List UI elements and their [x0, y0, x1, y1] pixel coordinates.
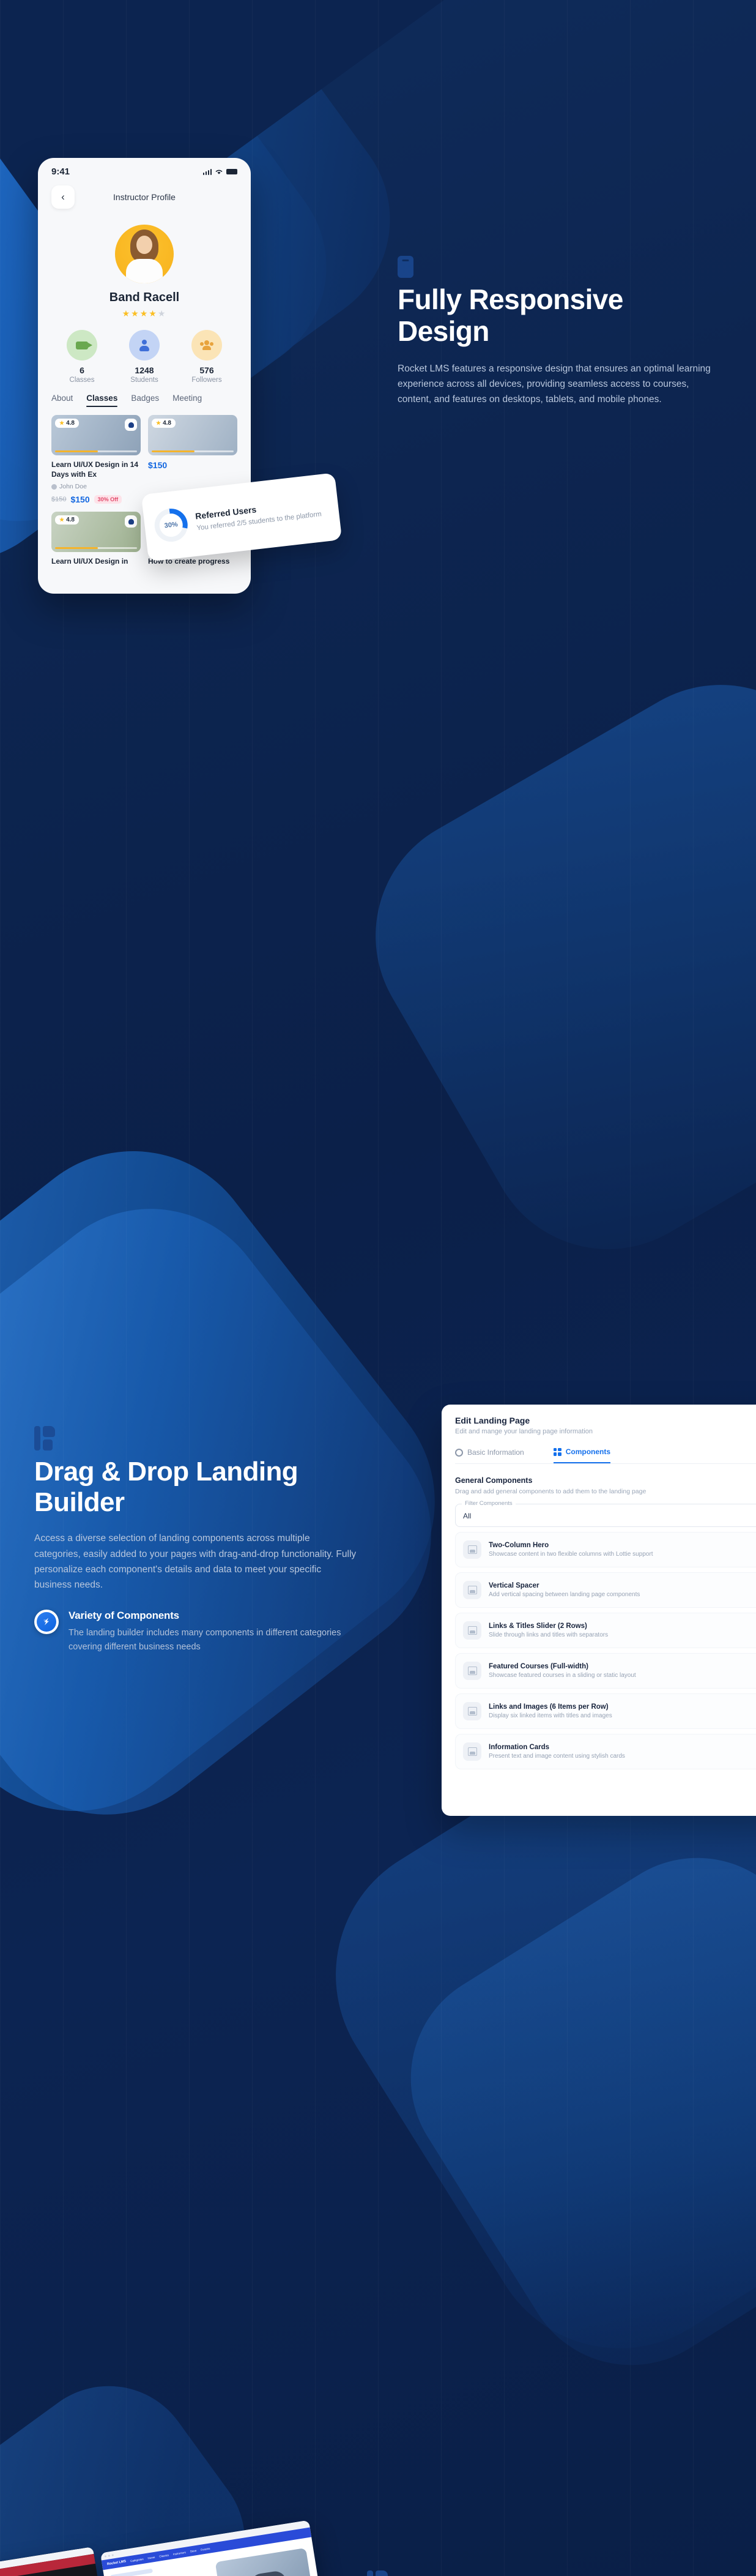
page-title: Fully Responsive Design [398, 284, 716, 348]
stat-label: Students [124, 376, 165, 384]
battery-icon [226, 169, 237, 174]
signal-icon [203, 169, 212, 175]
phone-status-bar: 9:41 [38, 158, 251, 179]
video-camera-icon [67, 330, 97, 360]
bell-icon[interactable] [125, 419, 137, 431]
stat-value: 576 [187, 365, 227, 375]
profile-name: Band Racell [38, 291, 251, 305]
wifi-icon [215, 168, 223, 175]
status-time: 9:41 [51, 166, 70, 177]
section-fully-responsive-design: 9:41 ‹ Instructor Profile Band Racell ★★… [0, 0, 756, 649]
group-icon [191, 330, 222, 360]
mobile-device-icon [398, 256, 413, 278]
avatar [115, 225, 174, 283]
rating-stars: ★★★★★ [38, 308, 251, 319]
nav-title: Instructor Profile [38, 192, 251, 202]
progress-donut: 30% [153, 507, 190, 543]
profile-tabs: About Classes Badges Meeting [38, 384, 251, 403]
stat-followers: 576 Followers [187, 330, 227, 384]
course-card[interactable]: ★4.8 Learn UI/UX Design in 14 Days with … [51, 415, 141, 504]
tab-meeting[interactable]: Meeting [172, 394, 202, 403]
bell-icon[interactable] [125, 515, 137, 528]
section-drag-drop-landing-builder: Drag & Drop Landing Builder Access a div… [0, 649, 756, 1267]
course-price: $150 [148, 460, 237, 470]
stat-value: 6 [62, 365, 102, 375]
profile-stats: 6 Classes 1248 Students 576 Followers [38, 330, 251, 384]
tab-classes[interactable]: Classes [86, 394, 117, 403]
stat-students: 1248 Students [124, 330, 165, 384]
course-title: Learn UI/UX Design in 14 Days with Ex [51, 460, 141, 479]
progress-percent: 30% [153, 507, 190, 543]
tab-badges[interactable]: Badges [131, 394, 159, 403]
landing-page: 9:41 ‹ Instructor Profile Band Racell ★★… [0, 0, 756, 2576]
status-icons [203, 168, 238, 175]
tab-about[interactable]: About [51, 394, 73, 403]
course-card[interactable]: ★4.8 Learn UI/UX Design in [51, 512, 141, 567]
phone-nav: ‹ Instructor Profile [38, 179, 251, 211]
rating-badge: ★4.8 [55, 419, 79, 428]
stat-label: Followers [187, 376, 227, 384]
stat-classes: 6 Classes [62, 330, 102, 384]
course-author: John Doe [51, 483, 141, 490]
section-highly-flexible-options: Highly Flexible Options Every visual ele… [0, 1940, 756, 2576]
section-body: Rocket LMS features a responsive design … [398, 361, 716, 407]
course-title: Learn UI/UX Design in [51, 557, 141, 567]
section-power-of-design-flexibility: Rocket LMSHomeClassesWebinarsStoreForums… [0, 1267, 756, 1940]
course-price: $150 $150 30% Off [51, 495, 141, 504]
section1-text: Fully Responsive Design Rocket LMS featu… [398, 256, 716, 407]
stat-label: Classes [62, 376, 102, 384]
rating-badge: ★4.8 [55, 515, 79, 525]
user-icon [129, 330, 160, 360]
stat-value: 1248 [124, 365, 165, 375]
rating-badge: ★4.8 [152, 419, 176, 428]
